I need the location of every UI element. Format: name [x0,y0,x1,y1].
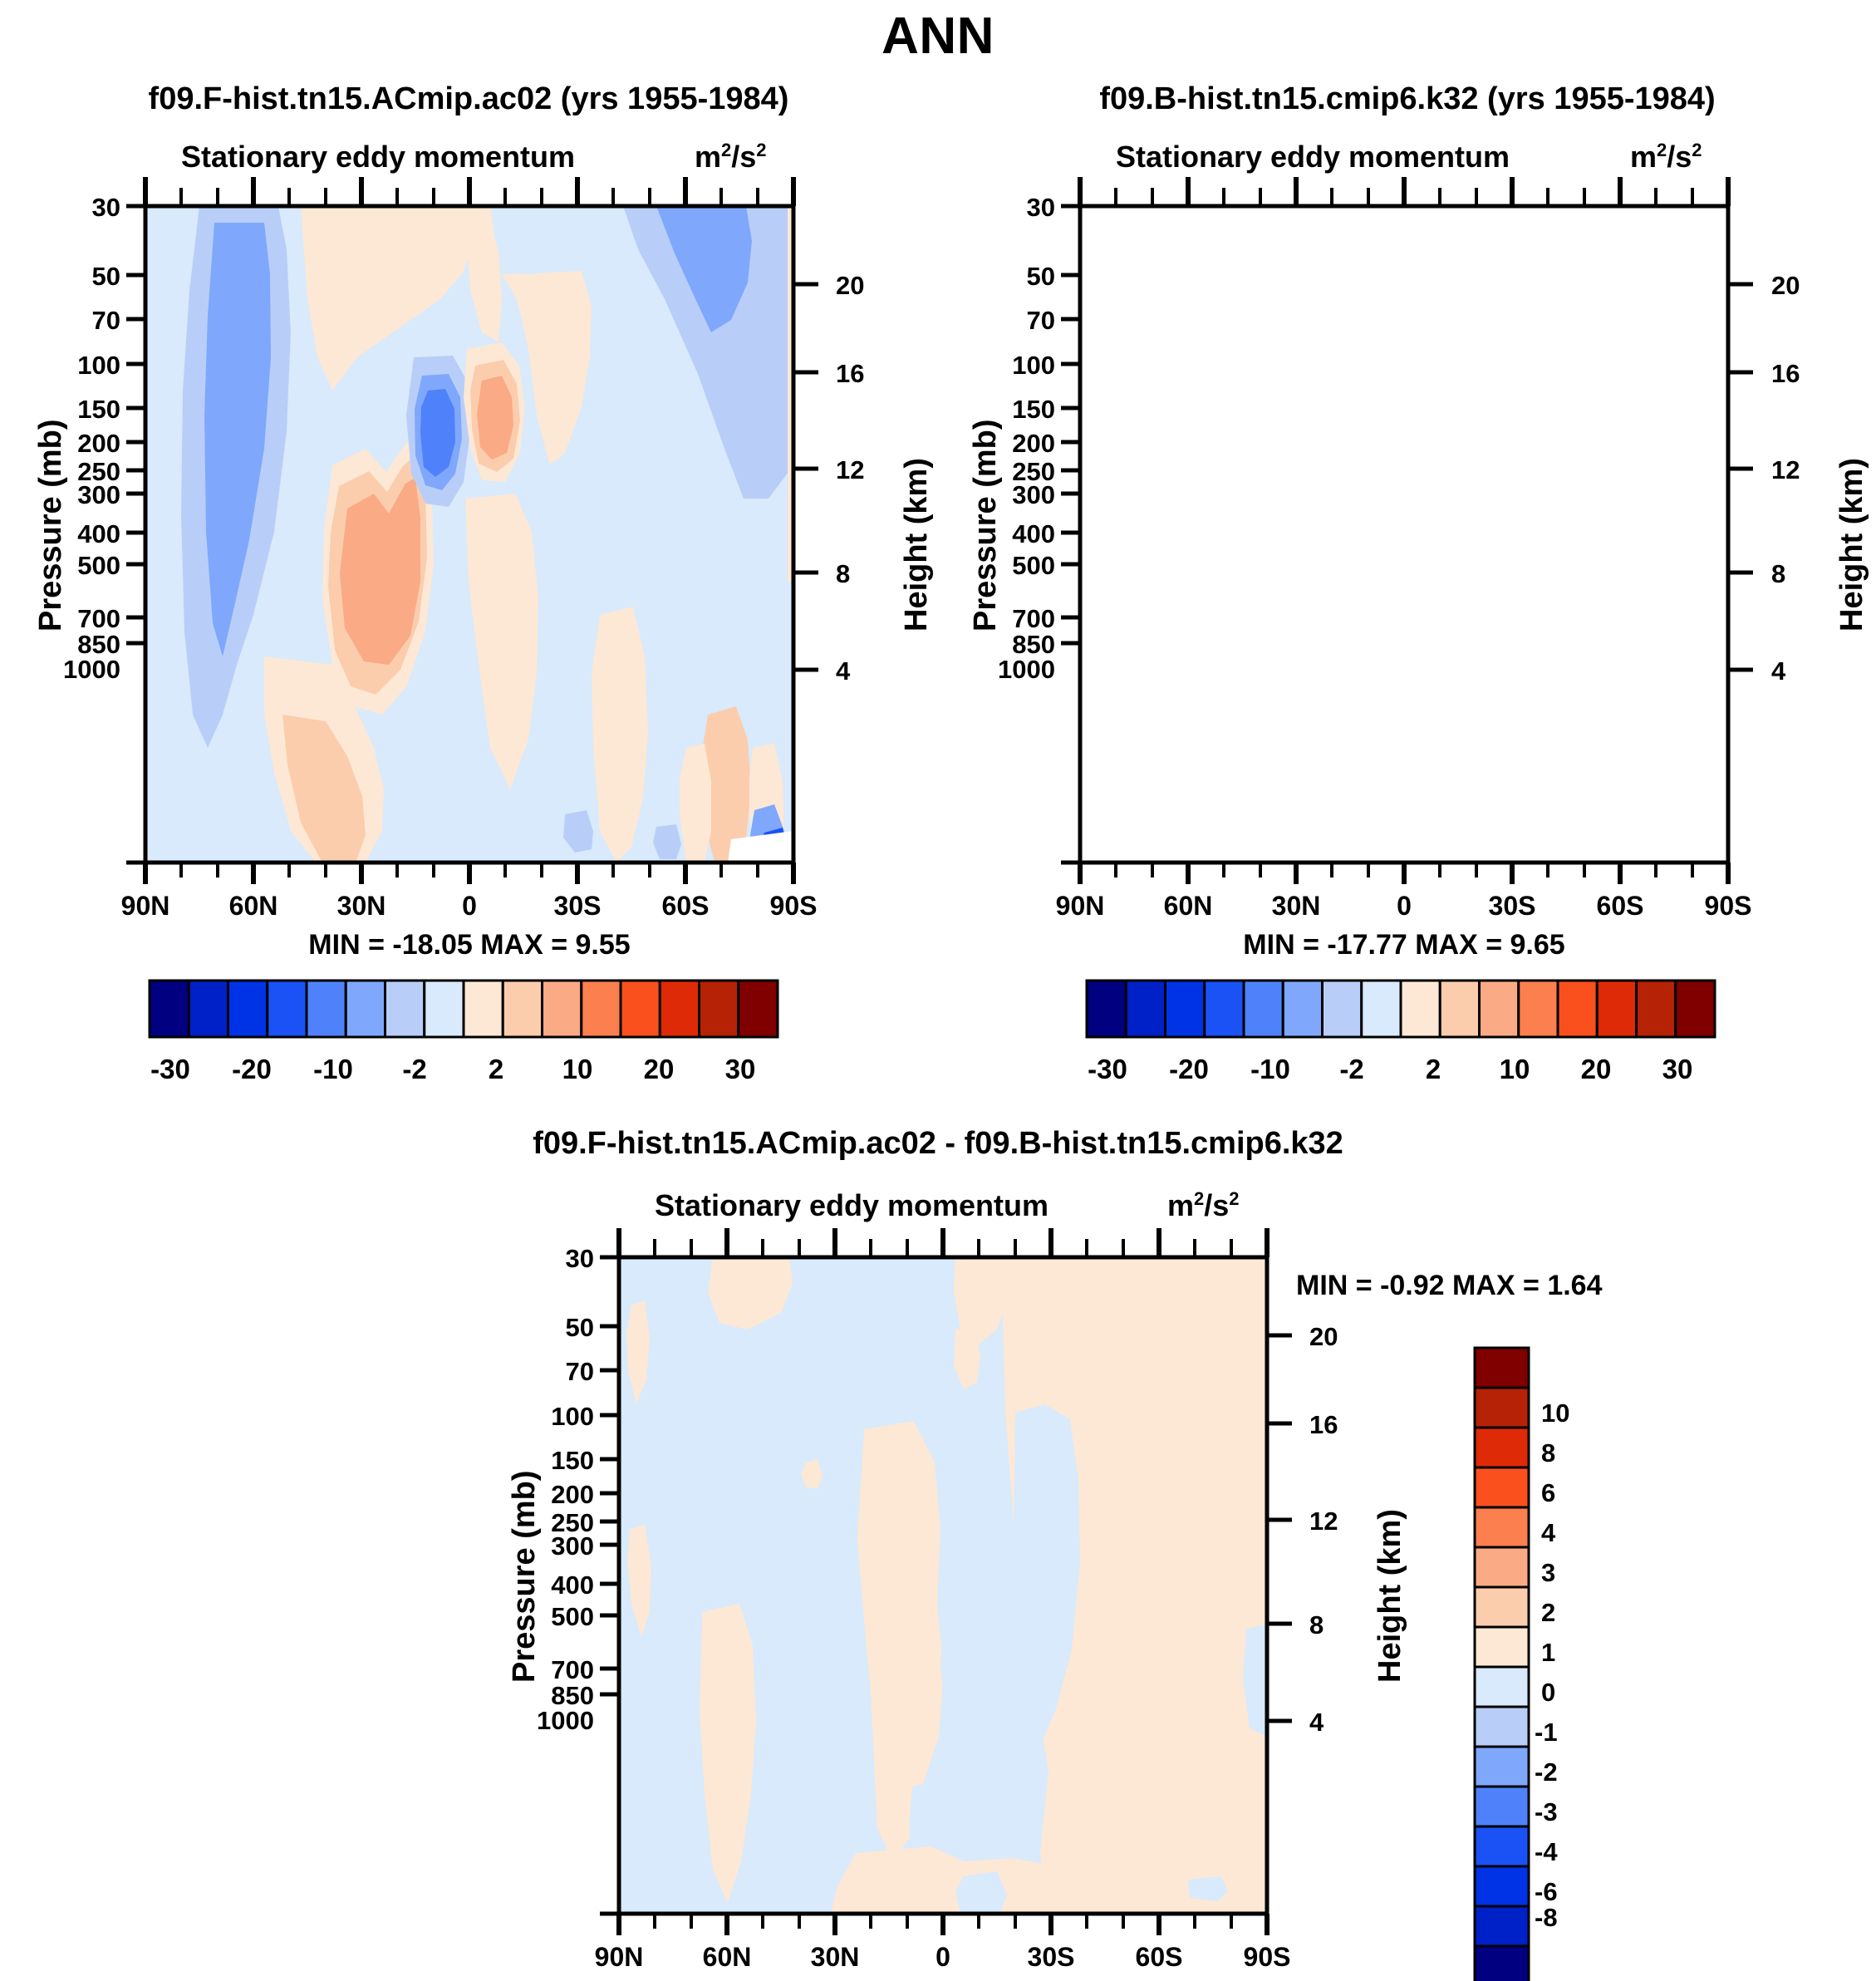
colorbar-left-swatch-2[interactable] [228,981,268,1037]
colorbar-vertical-swatch-14[interactable] [1475,1906,1529,1946]
colorbar-right-swatch-5[interactable] [1283,981,1322,1037]
colorbar-left-swatch-6[interactable] [386,981,425,1037]
colorbar-vertical-swatch-2[interactable] [1475,1428,1529,1467]
colorbar-right-swatch-6[interactable] [1323,981,1362,1037]
colorbar-vertical-diff[interactable] [1475,1348,1529,1981]
colorbar-left-swatch-7[interactable] [425,981,464,1037]
colorbar-right-swatch-11[interactable] [1519,981,1558,1037]
colorbar-left-swatch-10[interactable] [543,981,582,1037]
colorbar-vertical-swatch-9[interactable] [1475,1707,1529,1747]
colorbar-left-swatch-0[interactable] [150,981,189,1037]
colorbar-vertical-swatch-12[interactable] [1475,1826,1529,1866]
colorbar-right-swatch-13[interactable] [1597,981,1636,1037]
colorbar-left-swatch-4[interactable] [307,981,346,1037]
contour-field-right [1080,206,1728,863]
colorbar-right-swatch-9[interactable] [1440,981,1479,1037]
plot-canvas [0,0,1876,1981]
colorbar-right-swatch-1[interactable] [1126,981,1165,1037]
colorbar-left-swatch-11[interactable] [582,981,621,1037]
colorbar-left-swatch-5[interactable] [346,981,385,1037]
colorbar-right-swatch-14[interactable] [1637,981,1676,1037]
colorbar-vertical-swatch-15[interactable] [1475,1946,1529,1981]
colorbar-left-swatch-15[interactable] [739,981,778,1037]
colorbar-right-swatch-12[interactable] [1558,981,1597,1037]
colorbar-right-swatch-0[interactable] [1087,981,1126,1037]
colorbar-right-swatch-4[interactable] [1244,981,1283,1037]
colorbar-left-swatch-3[interactable] [268,981,307,1037]
contour-field-left [145,206,793,863]
colorbar-left-swatch-12[interactable] [621,981,660,1037]
colorbar-vertical-swatch-8[interactable] [1475,1667,1529,1707]
colorbar-vertical-swatch-4[interactable] [1475,1507,1529,1547]
axis-ticks-right [1061,177,1753,884]
contour-field-diff [619,1257,1267,1914]
colorbar-right-swatch-2[interactable] [1166,981,1205,1037]
colorbar-right-swatch-10[interactable] [1480,981,1519,1037]
colorbar-vertical-swatch-1[interactable] [1475,1388,1529,1428]
colorbar-horizontal-right[interactable] [1087,981,1715,1037]
colorbar-left-swatch-8[interactable] [464,981,503,1037]
plot-frame-right [1080,206,1728,863]
colorbar-left-swatch-13[interactable] [660,981,699,1037]
colorbar-vertical-swatch-6[interactable] [1475,1587,1529,1627]
colorbar-vertical-swatch-7[interactable] [1475,1627,1529,1667]
colorbar-vertical-swatch-0[interactable] [1475,1348,1529,1388]
figure-root: ANN f09.F-hist.tn15.ACmip.ac02 (yrs 1955… [0,0,1876,1981]
colorbar-horizontal-left[interactable] [150,981,778,1037]
colorbar-left-swatch-9[interactable] [503,981,542,1037]
colorbar-vertical-swatch-3[interactable] [1475,1467,1529,1507]
colorbar-vertical-swatch-10[interactable] [1475,1747,1529,1787]
colorbar-right-swatch-15[interactable] [1676,981,1715,1037]
colorbar-vertical-swatch-13[interactable] [1475,1866,1529,1906]
colorbar-right-swatch-8[interactable] [1401,981,1440,1037]
colorbar-left-swatch-14[interactable] [700,981,739,1037]
colorbar-vertical-swatch-11[interactable] [1475,1787,1529,1826]
colorbar-right-swatch-7[interactable] [1362,981,1401,1037]
colorbar-right-swatch-3[interactable] [1205,981,1244,1037]
colorbar-left-swatch-1[interactable] [189,981,228,1037]
colorbar-vertical-swatch-5[interactable] [1475,1547,1529,1587]
